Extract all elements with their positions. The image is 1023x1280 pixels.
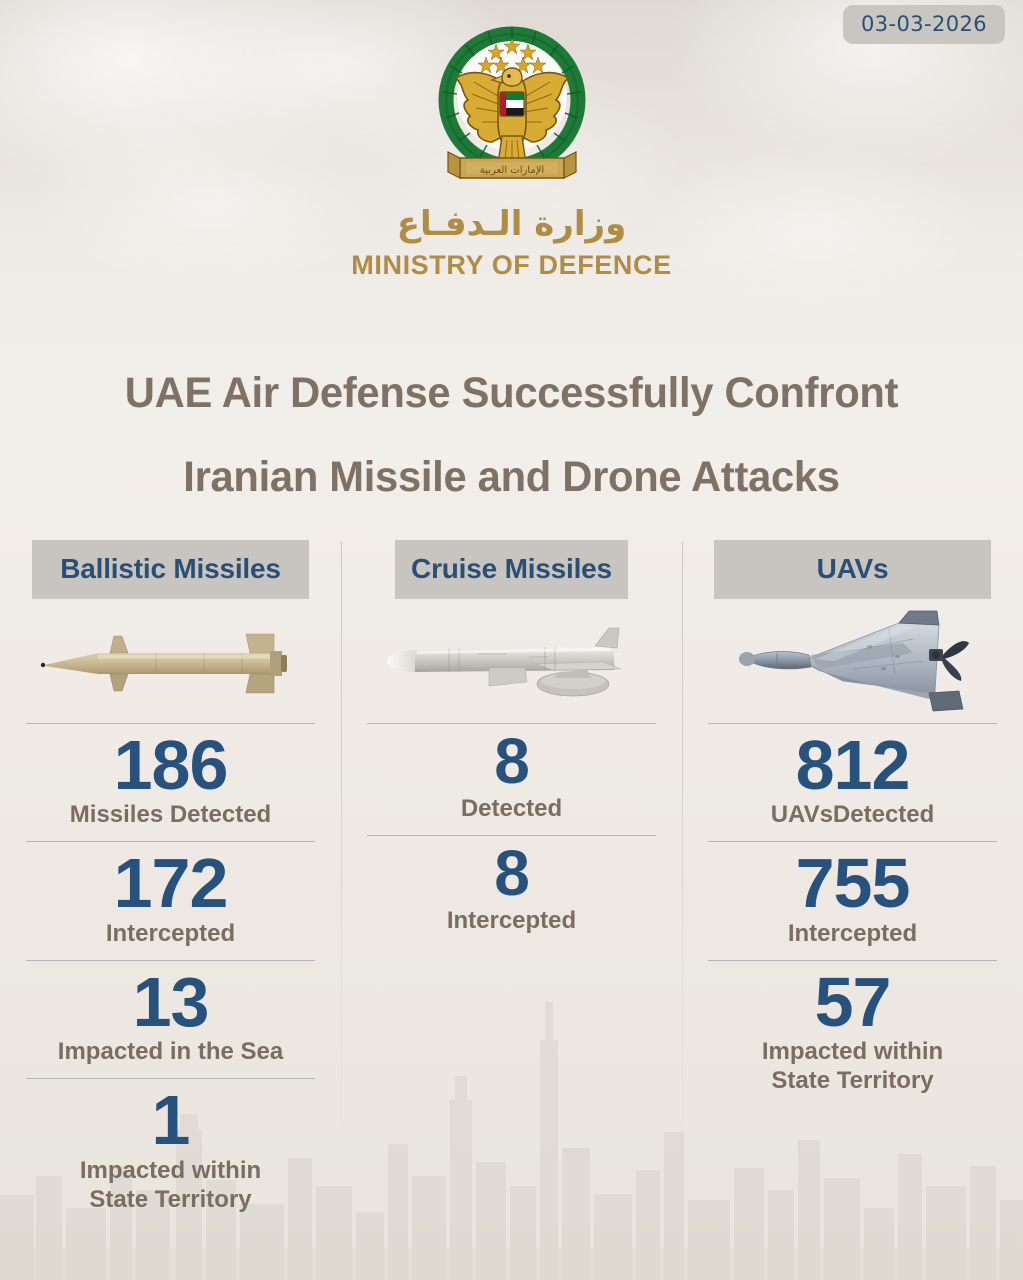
column-header-ballistic-missiles: Ballistic Missiles: [32, 540, 309, 599]
stat-value: 57: [708, 965, 997, 1039]
uav-drone-icon: [708, 605, 997, 723]
ministry-wordmark: وزارة الـدفـاع MINISTRY OF DEFENCE: [0, 203, 1023, 281]
stat-value: 172: [26, 846, 315, 920]
stat-row: 57 Impacted within State Territory: [708, 960, 997, 1108]
statistics-columns: Ballistic Missiles: [0, 540, 1023, 1280]
stat-value: 1: [26, 1083, 315, 1157]
infographic-page: 03-03-2026: [0, 0, 1023, 1280]
stat-value: 13: [26, 965, 315, 1039]
svg-text:الإمارات العربية: الإمارات العربية: [479, 165, 543, 176]
column-ballistic-missiles: Ballistic Missiles: [0, 540, 341, 1226]
stat-label: Impacted in the Sea: [26, 1037, 315, 1072]
stat-value: 8: [367, 840, 656, 908]
stat-row: 8 Intercepted: [367, 835, 656, 947]
stat-label: Intercepted: [708, 919, 997, 954]
stat-value: 186: [26, 728, 315, 802]
ballistic-missile-icon: [26, 605, 315, 723]
page-title-line-1: UAE Air Defense Successfully Confront: [15, 352, 1007, 436]
stat-row: 172 Intercepted: [26, 841, 315, 959]
stat-label: Intercepted: [26, 919, 315, 954]
stat-row: 8 Detected: [367, 723, 656, 835]
column-header-uavs: UAVs: [714, 540, 991, 599]
column-header-cruise-missiles: Cruise Missiles: [395, 540, 628, 599]
column-title: Cruise Missiles: [411, 553, 612, 584]
stat-label: Detected: [367, 794, 656, 829]
column-cruise-missiles: Cruise Missiles: [341, 540, 682, 947]
stat-value: 755: [708, 846, 997, 920]
cloud-wash: [0, 0, 350, 190]
cruise-missile-icon: [367, 605, 656, 723]
date-badge: 03-03-2026: [843, 5, 1005, 44]
stat-label: Missiles Detected: [26, 800, 315, 835]
column-title: UAVs: [817, 553, 889, 584]
stat-row: 755 Intercepted: [708, 841, 997, 959]
stat-value: 812: [708, 728, 997, 802]
stat-row: 186 Missiles Detected: [26, 723, 315, 841]
stat-row: 13 Impacted in the Sea: [26, 960, 315, 1078]
stat-label: UAVsDetected: [708, 800, 997, 835]
stat-label: Impacted within State Territory: [708, 1037, 997, 1102]
page-title: UAE Air Defense Successfully Confront Ir…: [15, 352, 1007, 520]
page-title-line-2: Iranian Missile and Drone Attacks: [15, 436, 1007, 520]
column-uavs: UAVs: [682, 540, 1023, 1108]
stat-label: Impacted within State Territory: [26, 1156, 315, 1221]
column-title: Ballistic Missiles: [60, 553, 281, 584]
stat-value: 8: [367, 728, 656, 796]
stat-row: 812 UAVsDetected: [708, 723, 997, 841]
stat-row: 1 Impacted within State Territory: [26, 1078, 315, 1226]
stat-label: Intercepted: [367, 906, 656, 941]
uae-ministry-of-defence-emblem: الإمارات العربية: [428, 12, 596, 197]
ministry-name-english: MINISTRY OF DEFENCE: [0, 250, 1023, 281]
ministry-name-arabic: وزارة الـدفـاع: [0, 203, 1023, 246]
